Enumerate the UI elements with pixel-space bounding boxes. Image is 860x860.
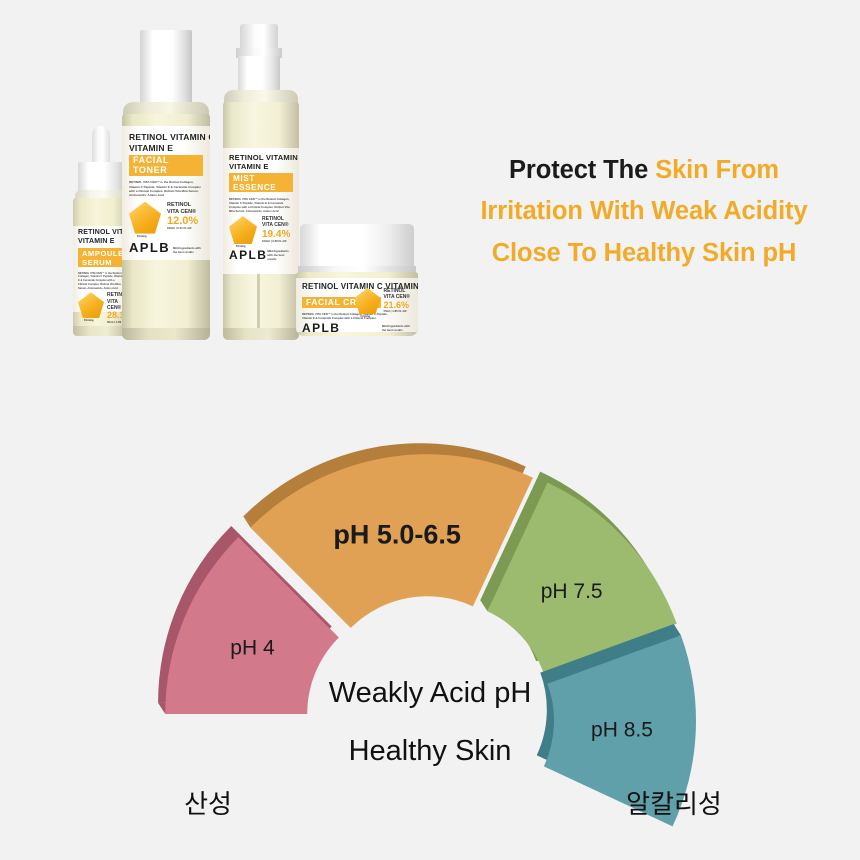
mist-type-label: MIST ESSENCE [229,173,293,192]
product-showcase: RETINOL VITAMIN C VITAMIN E AMPOULE SERU… [0,0,440,370]
cream-volume: 55ml | 1.85 FL.OZ [384,310,410,314]
toner-type-label: FACIAL TONER [129,155,203,176]
toner-label: RETINOL VITAMIN C VITAMIN E FACIAL TONER… [122,126,210,260]
toner-pentagon-graphic: Firming [129,202,161,234]
mist-ingredient-name2: VITA CEN® [262,222,290,228]
toner-bottle-body: RETINOL VITAMIN C VITAMIN E FACIAL TONER… [122,114,210,336]
segment-label: pH 4 [230,636,275,659]
segment-label: pH 8.5 [591,718,653,741]
mist-name-line2: VITAMIN E [229,162,293,171]
toner-ingredient-name2: VITA CEN® [167,209,198,216]
mist-pentagon-graphic: Firming [229,216,257,244]
headline: Protect The Skin From Irritation With We… [428,150,860,274]
cream-jar-body: RETINOL VITAMIN C VITAMIN E FACIAL CREAM… [296,272,418,336]
mist-fine-print: RETINOL VITA CEN™ is the Retinol Collage… [229,197,293,213]
ph-chart-svg: pH 4pH 5.0-6.5pH 7.5pH 8.5 Weakly Acid p… [0,390,860,860]
headline-line-2: Irritation With Weak Acidity [428,191,860,232]
dip-tube [257,274,260,336]
axis-label-alkaline: 알칼리성 [626,789,722,819]
ph-scale-diagram: pH 4pH 5.0-6.5pH 7.5pH 8.5 Weakly Acid p… [0,390,860,860]
spray-collar [238,56,280,92]
chart-center-line-2: Healthy Skin [349,735,512,767]
mist-name-line1: RETINOL VITAMIN C [229,153,293,162]
toner-bottle-base [122,328,210,340]
toner-percent-block: RETINOL VITA CEN® 12.0% 160ml | 5.41 FL.… [167,202,198,232]
cream-percent-block: RETINOL VITA CEN® 21.6% 55ml | 1.85 FL.O… [384,288,410,314]
toner-name-line1: RETINOL VITAMIN C [129,132,203,143]
ph-segments [158,443,696,826]
page-root: RETINOL VITAMIN C VITAMIN E AMPOULE SERU… [0,0,860,860]
segment-label: pH 7.5 [541,580,603,603]
cream-percent-group: Firming RETINOL VITA CEN® 21.6% 55ml | 1… [355,288,410,314]
toner-volume: 160ml | 5.41 FL.OZ [167,227,198,231]
chart-center-line-1: Weakly Acid pH [329,677,532,709]
toner-cap [140,30,192,104]
spray-nozzle-icon [240,24,278,50]
headline-line-1: Protect The Skin From [428,150,860,191]
cream-fine-print2: Mild Ingredients with the best results [382,325,412,333]
headline-line1-accent: Skin From [655,156,779,184]
mist-bottle-body: RETINOL VITAMIN C VITAMIN E MIST ESSENCE… [223,102,299,336]
headline-line1-dark: Protect The [509,156,655,184]
serum-pentagon-graphic: Firming [78,292,104,318]
headline-line-3: Close To Healthy Skin pH [428,233,860,274]
product-facial-toner[interactable]: RETINOL VITAMIN C VITAMIN E FACIAL TONER… [118,30,214,342]
product-facial-cream[interactable]: RETINOL VITAMIN C VITAMIN E FACIAL CREAM… [294,224,420,344]
dropper-bulb-icon [92,126,110,166]
product-mist-essence[interactable]: RETINOL VITAMIN C VITAMIN E MIST ESSENCE… [218,24,304,344]
toner-name-line2: VITAMIN E [129,143,203,154]
mist-label: RETINOL VITAMIN C VITAMIN E MIST ESSENCE… [223,148,299,274]
cream-pentagon-graphic: Firming [355,288,381,314]
toner-fine-print: RETINOL VITA CEN™ is the Retinol Collage… [129,180,203,197]
mist-brand: APLB [229,248,267,262]
toner-brand: APLB [129,240,170,255]
toner-ingredient-name: RETINOL [167,202,198,209]
axis-label-acidic: 산성 [184,789,232,819]
mist-volume: 100ml | 3.38 FL.OZ [262,240,290,244]
mist-bottle-base [223,328,299,340]
jar-lid [300,224,414,268]
toner-fine-print2: Mild Ingredients with the best results [173,247,203,255]
segment-label: pH 5.0-6.5 [333,520,461,550]
mist-percent-block: RETINOL VITA CEN® 19.4% 100ml | 3.38 FL.… [262,216,290,243]
cream-brand: APLB [302,321,340,335]
mist-percent: 19.4% [262,229,290,240]
mist-fine-print2: Mild Ingredients with the best results [267,250,293,262]
